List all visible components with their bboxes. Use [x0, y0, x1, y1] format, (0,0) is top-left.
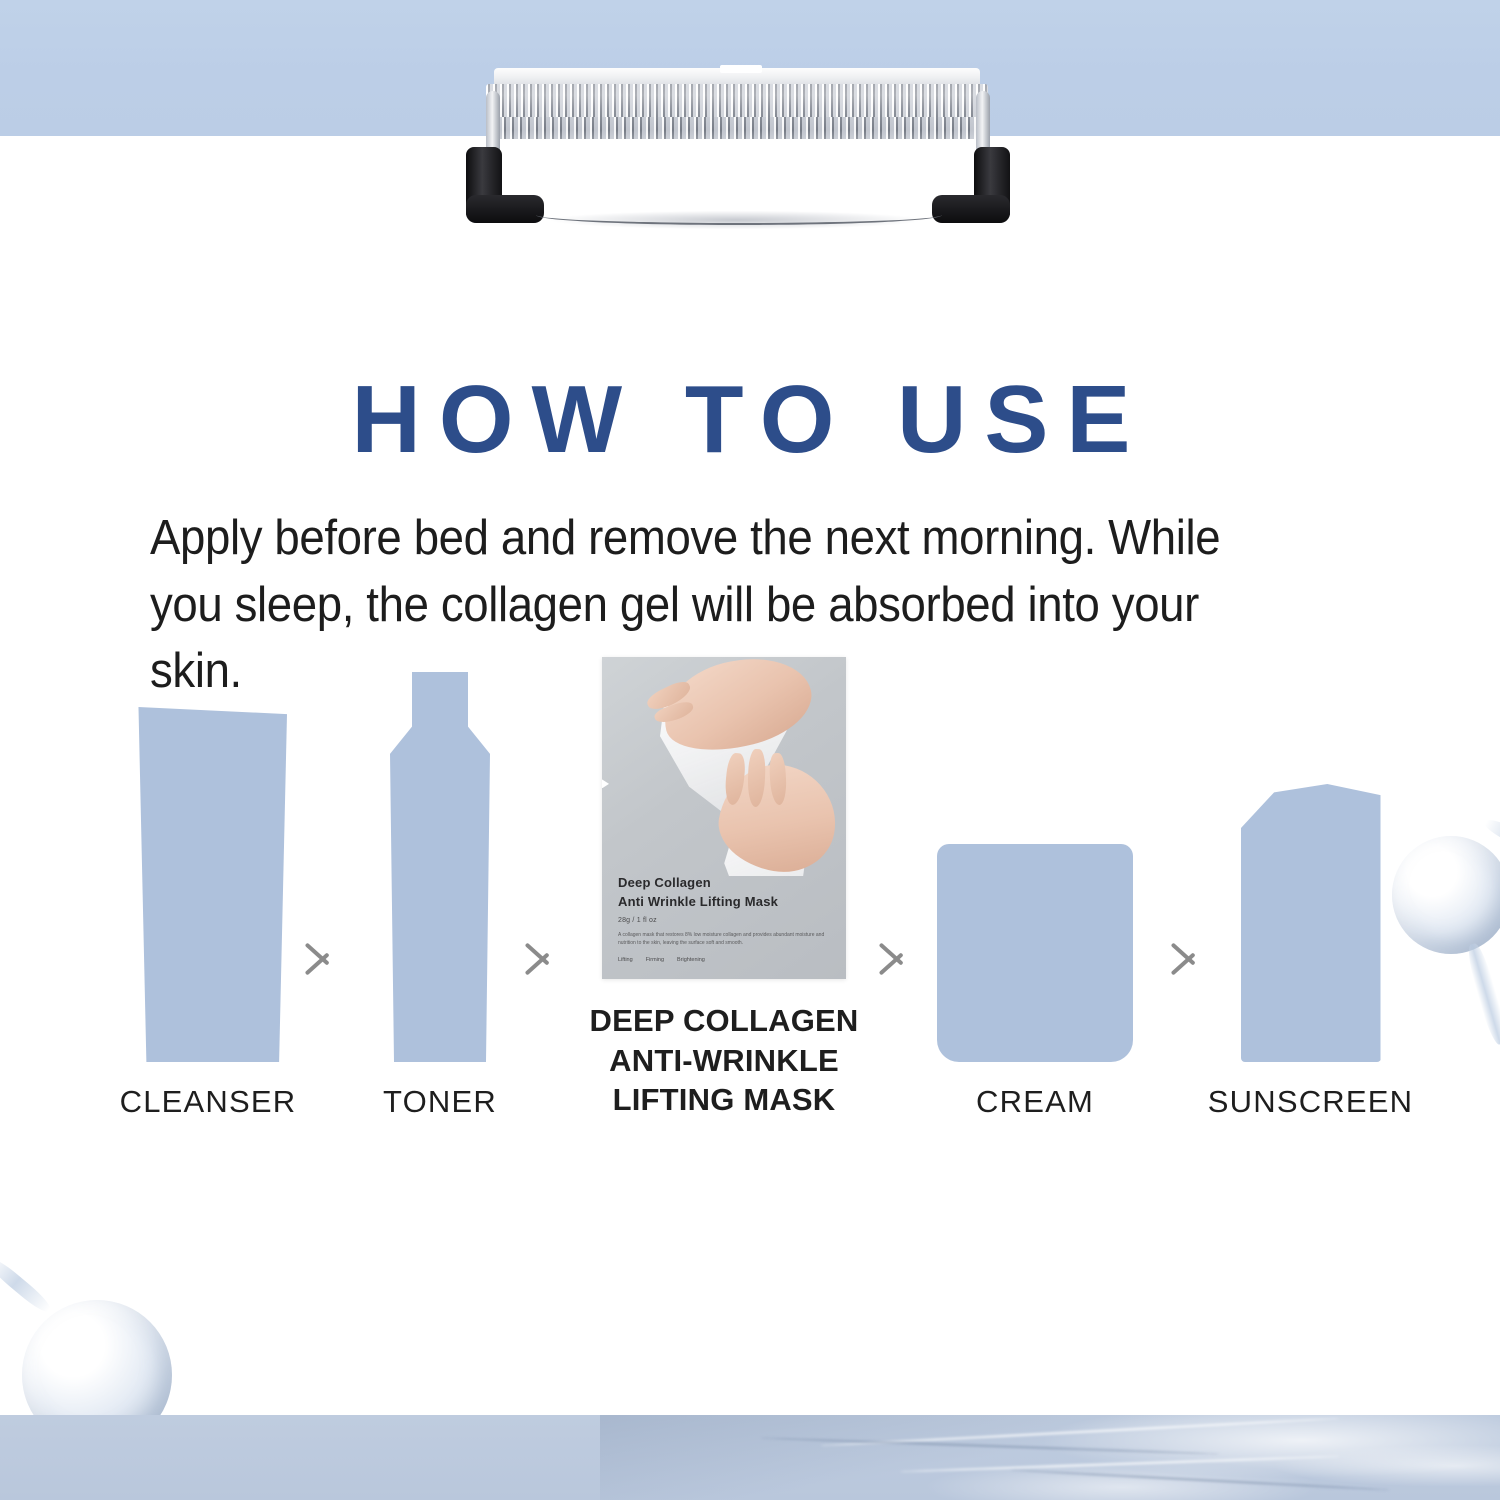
step-mask: Deep Collagen Anti Wrinkle Lifting Mask …: [600, 657, 848, 1120]
roller-center-notch: [720, 65, 762, 73]
step-cream: CREAM: [935, 844, 1135, 1120]
roller-cylinder-lower: [486, 117, 988, 139]
chevron-right-icon-2: [522, 930, 556, 986]
step-sunscreen: SUNSCREEN: [1238, 784, 1383, 1120]
mask-sachet-package: Deep Collagen Anti Wrinkle Lifting Mask …: [602, 657, 846, 979]
chevron-right-icon-4: [1168, 930, 1202, 986]
chevron-right-icon-3: [876, 930, 910, 986]
package-brand-line1: Deep Collagen: [618, 874, 830, 893]
package-description: A collagen mask that restores 8% low moi…: [618, 931, 830, 948]
cleanser-tube-icon: [129, 707, 287, 1062]
step-label-cleanser: CLEANSER: [120, 1084, 297, 1120]
routine-steps: CLEANSER TONER: [0, 700, 1500, 1120]
page-title: HOW TO USE: [0, 365, 1500, 475]
step-label-toner: TONER: [383, 1084, 497, 1120]
sachet-photo-hands-with-mask: [602, 657, 846, 876]
package-features: Lifting Firming Brightening: [618, 957, 830, 963]
cream-jar-icon: [937, 844, 1133, 1062]
bottom-blue-banner: [0, 1415, 1500, 1500]
collagen-roller-tool: [458, 55, 1018, 235]
molecule-stem-bl-1: [0, 1255, 53, 1316]
sunscreen-tube-icon: [1241, 784, 1381, 1062]
package-feature-firming: Firming: [646, 957, 664, 963]
infographic-page: HOW TO USE Apply before bed and remove t…: [0, 0, 1500, 1500]
package-size: 28g / 1 fl oz: [618, 917, 830, 924]
step-label-sunscreen: SUNSCREEN: [1208, 1084, 1413, 1120]
package-feature-brightening: Brightening: [677, 957, 705, 963]
roller-foot-right: [932, 195, 1010, 223]
package-brand-line2: Anti Wrinkle Lifting Mask: [618, 893, 830, 912]
chevron-right-icon-1: [302, 930, 336, 986]
step-label-mask: DEEP COLLAGEN ANTI-WRINKLE LIFTING MASK: [559, 1001, 889, 1120]
package-feature-lifting: Lifting: [618, 957, 633, 963]
roller-foot-left: [466, 195, 544, 223]
toner-bottle-icon: [390, 672, 490, 1062]
step-label-cream: CREAM: [976, 1084, 1094, 1120]
step-toner: TONER: [375, 672, 505, 1120]
step-cleanser: CLEANSER: [118, 707, 298, 1120]
sachet-text-block: Deep Collagen Anti Wrinkle Lifting Mask …: [618, 874, 830, 963]
